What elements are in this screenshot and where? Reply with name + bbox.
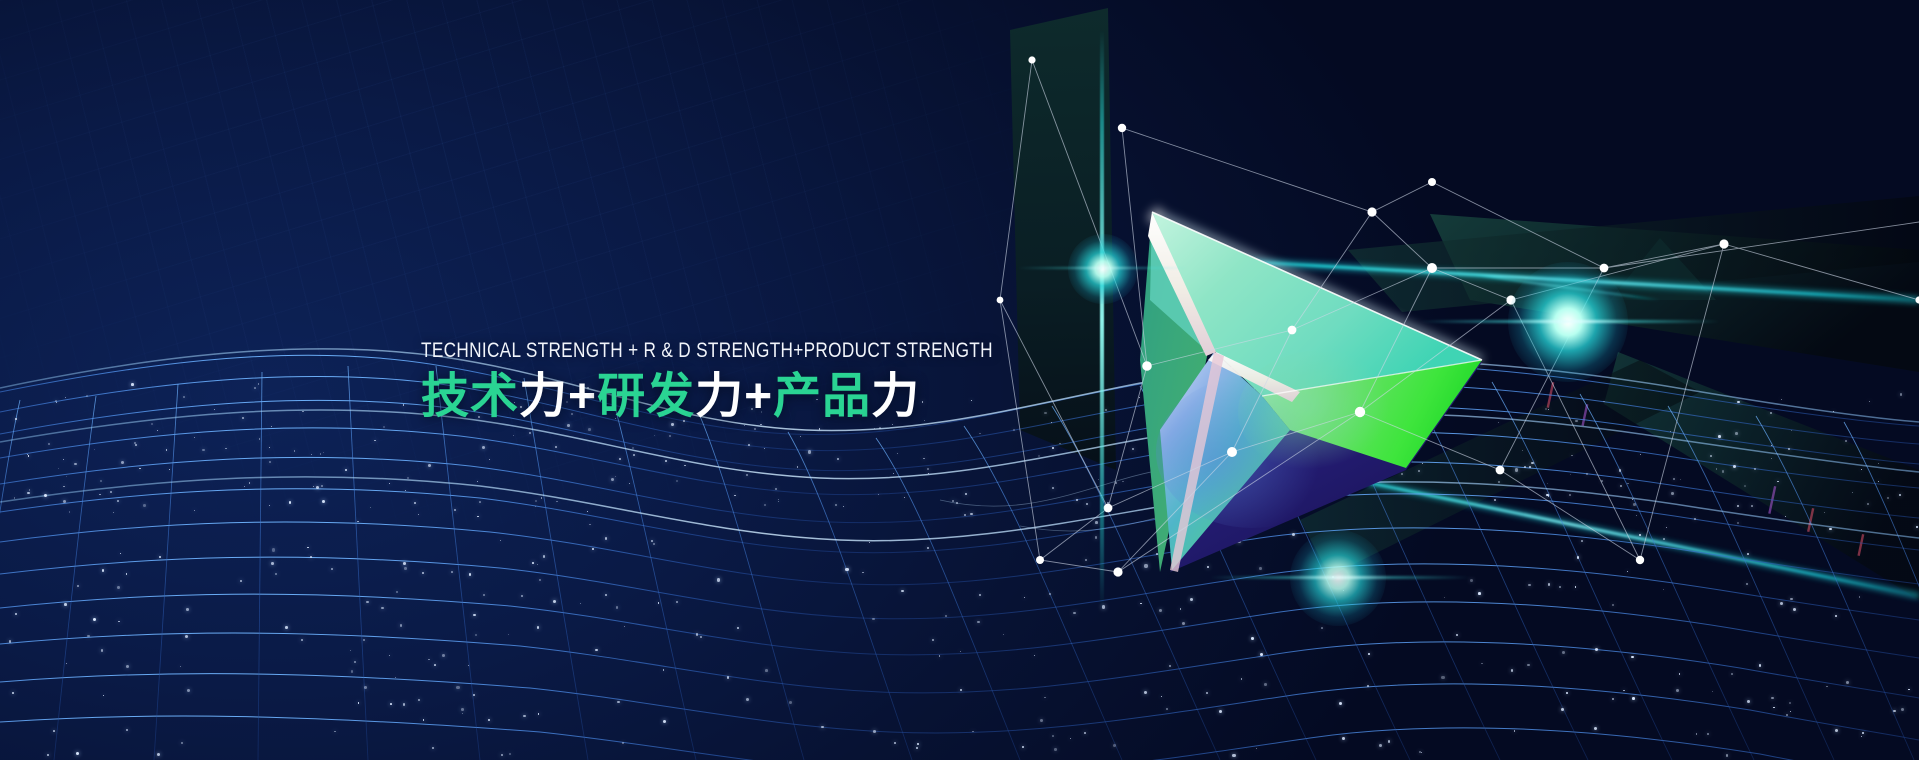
headline-chinese-segment-4: 力 — [695, 370, 744, 423]
headline-english: TECHNICAL STRENGTH + R & D STRENGTH+PROD… — [421, 338, 993, 363]
headline-chinese-segment-6: 产品 — [773, 370, 871, 423]
headline-chinese-segment-0: 技术 — [421, 370, 519, 423]
headline-chinese: 技术力+研发力+产品力 — [421, 369, 1136, 426]
headline-chinese-segment-3: 研发 — [597, 370, 695, 423]
headline-block: TECHNICAL STRENGTH + R & D STRENGTH+PROD… — [421, 338, 1136, 426]
headline-chinese-segment-7: 力 — [871, 370, 920, 423]
headline-chinese-segment-2: + — [568, 370, 597, 423]
hero-banner: TECHNICAL STRENGTH + R & D STRENGTH+PROD… — [0, 0, 1919, 760]
headline-chinese-segment-1: 力 — [519, 370, 568, 423]
headline-chinese-segment-5: + — [744, 370, 773, 423]
